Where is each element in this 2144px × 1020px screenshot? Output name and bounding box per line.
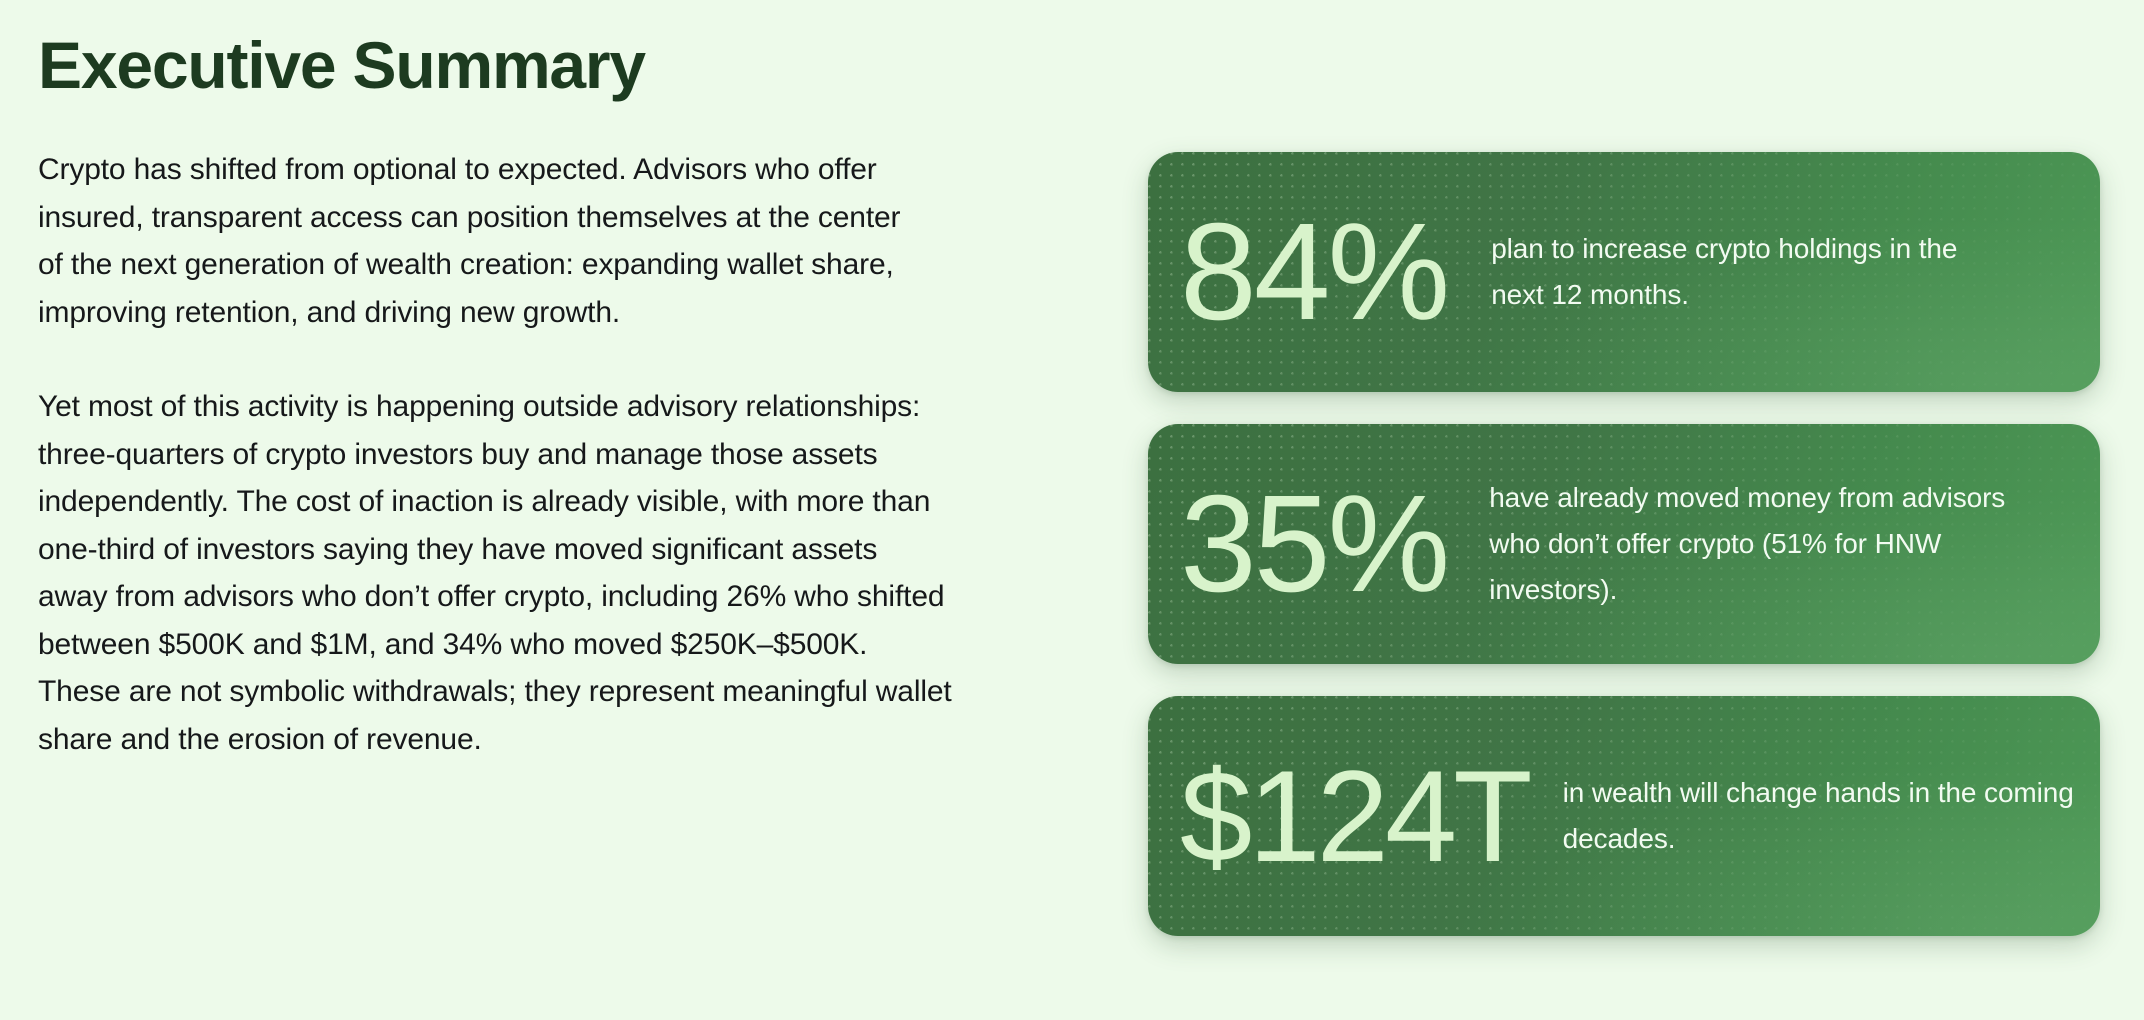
stat-description: have already moved money from advisors w… (1489, 475, 2049, 613)
stat-card: 84% plan to increase crypto holdings in … (1148, 152, 2100, 392)
summary-paragraph-1: Crypto has shifted from optional to expe… (38, 146, 928, 336)
stat-value: 84% (1148, 206, 1447, 338)
summary-text-column: Executive Summary Crypto has shifted fro… (38, 26, 998, 763)
stat-description: plan to increase crypto holdings in the … (1491, 226, 2011, 318)
stat-card: 35% have already moved money from adviso… (1148, 424, 2100, 664)
stat-card: $124T in wealth will change hands in the… (1148, 696, 2100, 936)
summary-paragraph-2: Yet most of this activity is happening o… (38, 383, 953, 763)
body-copy: Crypto has shifted from optional to expe… (38, 146, 958, 763)
executive-summary-page: Executive Summary Crypto has shifted fro… (0, 0, 2144, 1020)
stat-card-list: 84% plan to increase crypto holdings in … (1148, 152, 2100, 936)
stat-description: in wealth will change hands in the comin… (1563, 770, 2083, 862)
stat-value: 35% (1148, 478, 1447, 610)
stat-value: $124T (1148, 750, 1529, 882)
page-title: Executive Summary (38, 26, 998, 104)
